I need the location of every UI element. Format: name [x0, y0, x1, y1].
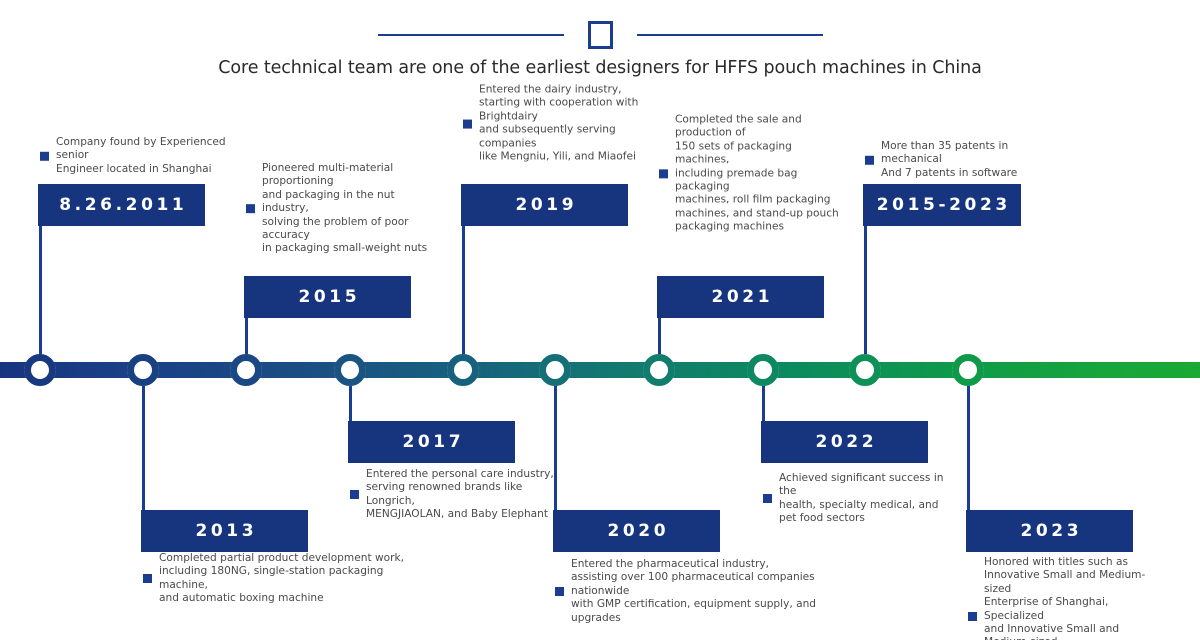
- description-text: Pioneered multi-material proportioning a…: [262, 162, 436, 256]
- horizontal-rule-icon: [378, 34, 564, 36]
- description-text: More than 35 patents in mechanical And 7…: [881, 140, 1065, 180]
- timeline-infographic: Core technical team are one of the earli…: [0, 0, 1200, 640]
- description-text: Entered the dairy industry, starting wit…: [479, 84, 673, 164]
- timeline-connector-event-2013: [142, 370, 145, 510]
- node-ring-icon: [849, 354, 881, 386]
- timeline-description-event-2019: Entered the dairy industry, starting wit…: [463, 84, 673, 164]
- node-ring-icon: [952, 354, 984, 386]
- square-bullet-icon: [763, 494, 772, 503]
- timeline-node-event-2017: [334, 354, 366, 386]
- node-ring-icon: [747, 354, 779, 386]
- timeline-label-event-2019: 2019: [461, 184, 628, 226]
- square-bullet-icon: [865, 155, 874, 164]
- square-bullet-icon: [968, 612, 977, 621]
- timeline-connector-event-2020: [554, 370, 557, 510]
- timeline-node-event-2022: [747, 354, 779, 386]
- timeline-node-event-2013: [127, 354, 159, 386]
- node-ring-icon: [230, 354, 262, 386]
- square-bullet-icon: [143, 574, 152, 583]
- timeline-description-event-2021: Completed the sale and production of 150…: [659, 113, 849, 234]
- timeline-node-event-2015: [230, 354, 262, 386]
- timeline-connector-event-2019: [462, 226, 465, 370]
- timeline-node-event-2019: [447, 354, 479, 386]
- description-text: Company found by Experienced senior Engi…: [56, 136, 240, 176]
- timeline-label-event-2020: 2020: [553, 510, 720, 552]
- timeline-description-event-2011: Company found by Experienced senior Engi…: [40, 136, 240, 176]
- description-text: Entered the personal care industry, serv…: [366, 468, 555, 522]
- node-ring-icon: [539, 354, 571, 386]
- timeline-label-event-2023: 2023: [966, 510, 1133, 552]
- timeline-label-event-2015-2023: 2015-2023: [863, 184, 1021, 226]
- square-bullet-icon: [40, 151, 49, 160]
- timeline-axis: [0, 362, 1200, 378]
- timeline-description-event-2015-2023: More than 35 patents in mechanical And 7…: [865, 140, 1065, 180]
- page-title: Core technical team are one of the earli…: [0, 58, 1200, 78]
- timeline-description-event-2015: Pioneered multi-material proportioning a…: [246, 162, 436, 256]
- square-bullet-icon: [350, 490, 359, 499]
- timeline-node-event-2021: [643, 354, 675, 386]
- timeline-label-event-2011: 8.26.2011: [38, 184, 205, 226]
- timeline-label-event-2013: 2013: [141, 510, 308, 552]
- timeline-description-event-2023: Honored with titles such as Innovative S…: [968, 556, 1158, 640]
- horizontal-rule-icon: [637, 34, 823, 36]
- square-bullet-icon: [246, 205, 255, 214]
- description-text: Completed the sale and production of 150…: [675, 113, 849, 234]
- timeline-description-event-2020: Entered the pharmaceutical industry, ass…: [555, 558, 855, 625]
- timeline-label-event-2021: 2021: [657, 276, 824, 318]
- timeline-description-event-2022: Achieved significant success in the heal…: [763, 472, 953, 526]
- timeline-node-event-2015-2023: [849, 354, 881, 386]
- description-text: Achieved significant success in the heal…: [779, 472, 953, 526]
- square-bullet-icon: [463, 119, 472, 128]
- timeline-node-event-2020: [539, 354, 571, 386]
- header-divider: [0, 18, 1200, 52]
- timeline-connector-event-2011: [39, 226, 42, 370]
- timeline-label-event-2017: 2017: [348, 421, 515, 463]
- timeline-description-event-2017: Entered the personal care industry, serv…: [350, 468, 555, 522]
- description-text: Honored with titles such as Innovative S…: [984, 556, 1158, 640]
- square-bullet-icon: [555, 587, 564, 596]
- timeline-label-event-2022: 2022: [761, 421, 928, 463]
- timeline-connector-event-2015-2023: [864, 226, 867, 370]
- node-ring-icon: [334, 354, 366, 386]
- timeline-node-event-2023: [952, 354, 984, 386]
- timeline-description-event-2013: Completed partial product development wo…: [143, 552, 433, 606]
- square-outline-icon: [588, 21, 613, 49]
- timeline-connector-event-2023: [967, 370, 970, 510]
- node-ring-icon: [127, 354, 159, 386]
- timeline-label-event-2015: 2015: [244, 276, 411, 318]
- node-ring-icon: [447, 354, 479, 386]
- node-ring-icon: [24, 354, 56, 386]
- description-text: Completed partial product development wo…: [159, 552, 433, 606]
- square-bullet-icon: [659, 169, 668, 178]
- timeline-node-event-2011: [24, 354, 56, 386]
- description-text: Entered the pharmaceutical industry, ass…: [571, 558, 855, 625]
- node-ring-icon: [643, 354, 675, 386]
